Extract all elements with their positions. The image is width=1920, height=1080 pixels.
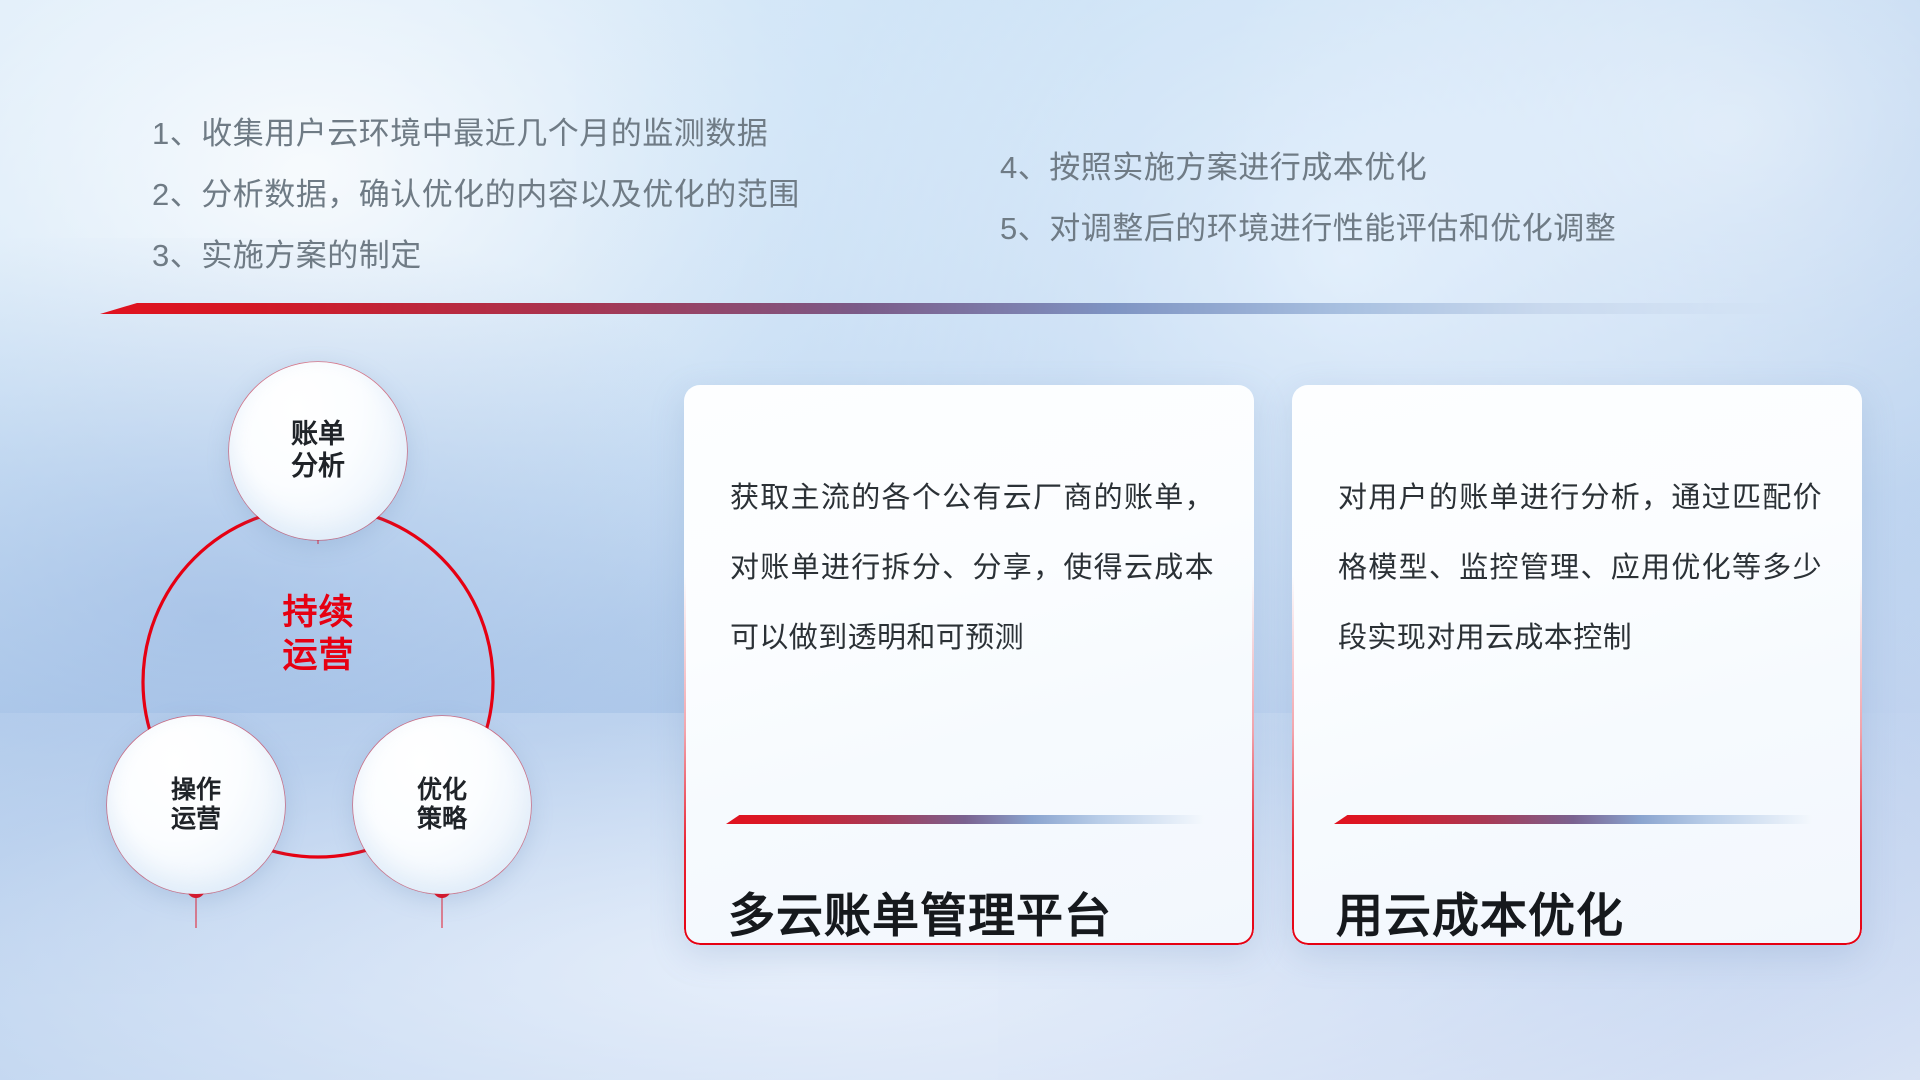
- card-multicloud-bill-platform-body: 获取主流的各个公有云厂商的账单，对账单进行拆分、分享，使得云成本可以做到透明和可…: [730, 463, 1214, 674]
- bubble-bill-analysis-line2: 分析: [291, 451, 345, 483]
- bubble-optimization-strategy[interactable]: 优化 策略: [353, 716, 531, 894]
- steps-right-column: 4、按照实施方案进行成本优化 5、对调整后的环境进行性能评估和优化调整: [1000, 152, 1616, 244]
- steps-left-column: 1、收集用户云环境中最近几个月的监测数据 2、分析数据，确认优化的内容以及优化的…: [152, 118, 800, 271]
- card-multicloud-bill-platform[interactable]: 获取主流的各个公有云厂商的账单，对账单进行拆分、分享，使得云成本可以做到透明和可…: [684, 385, 1254, 945]
- card-cloud-cost-optimization[interactable]: 对用户的账单进行分析，通过匹配价格模型、监控管理、应用优化等多少段实现对用云成本…: [1292, 385, 1862, 945]
- card-multicloud-bill-platform-title: 多云账单管理平台: [728, 877, 1218, 945]
- section-divider-bar: [100, 303, 1780, 314]
- step-item-2: 2、分析数据，确认优化的内容以及优化的范围: [152, 179, 800, 210]
- slide-canvas: 1、收集用户云环境中最近几个月的监测数据 2、分析数据，确认优化的内容以及优化的…: [0, 0, 1920, 1080]
- bubble-bill-analysis-line1: 账单: [291, 419, 345, 451]
- bubble-optimization-strategy-line1: 优化: [417, 776, 467, 806]
- cycle-center-line2: 运营: [246, 635, 391, 678]
- step-item-5: 5、对调整后的环境进行性能评估和优化调整: [1000, 213, 1616, 244]
- cycle-center-label: 持续 运营: [246, 592, 391, 677]
- cycle-diagram: 账单 分析 操作 运营 优化 策略 持续 运营: [95, 352, 655, 972]
- step-item-4: 4、按照实施方案进行成本优化: [1000, 152, 1616, 183]
- step-item-3: 3、实施方案的制定: [152, 240, 800, 271]
- card-cloud-cost-optimization-rule: [1334, 815, 1812, 824]
- bubble-optimization-strategy-line2: 策略: [417, 805, 467, 835]
- card-multicloud-bill-platform-rule: [726, 815, 1204, 824]
- step-item-1: 1、收集用户云环境中最近几个月的监测数据: [152, 118, 800, 149]
- bubble-operation-line2: 运营: [171, 805, 221, 835]
- cycle-center-line1: 持续: [246, 592, 391, 635]
- card-cloud-cost-optimization-title: 用云成本优化: [1336, 877, 1826, 945]
- bubble-operation-line1: 操作: [171, 776, 221, 806]
- card-cloud-cost-optimization-body: 对用户的账单进行分析，通过匹配价格模型、监控管理、应用优化等多少段实现对用云成本…: [1338, 463, 1822, 674]
- section-divider: [100, 303, 1780, 319]
- bubble-operation[interactable]: 操作 运营: [107, 716, 285, 894]
- bubble-bill-analysis[interactable]: 账单 分析: [229, 362, 407, 540]
